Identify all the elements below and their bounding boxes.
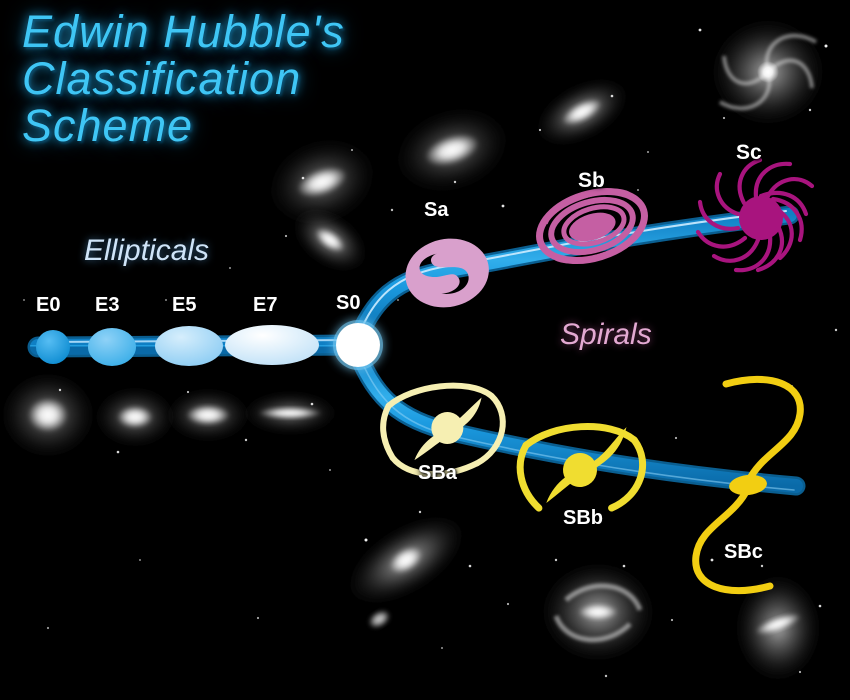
label-sc: Sc [736, 141, 762, 165]
hubble-tuning-fork-diagram: Edwin Hubble's Classification Scheme Ell… [0, 0, 850, 700]
label-e7: E7 [253, 294, 277, 317]
background-photo-layer [0, 0, 850, 700]
label-e3: E3 [95, 294, 119, 317]
group-label-ellipticals: Ellipticals [84, 234, 209, 268]
label-sbb: SBb [563, 507, 603, 530]
label-e5: E5 [172, 294, 196, 317]
label-sbc: SBc [724, 541, 763, 564]
label-sa: Sa [424, 199, 448, 222]
label-s0: S0 [336, 292, 360, 315]
label-sba: SBa [418, 462, 457, 485]
label-e0: E0 [36, 294, 60, 317]
label-sb: Sb [578, 169, 605, 193]
group-label-spirals: Spirals [560, 318, 652, 352]
